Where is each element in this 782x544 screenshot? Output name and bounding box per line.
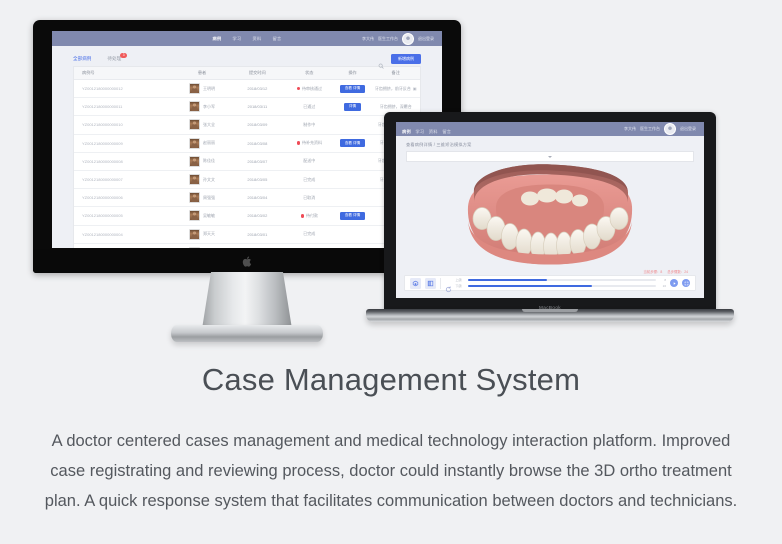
- cell-status: 制作中: [285, 122, 333, 128]
- caption-block: Case Management System A doctor centered…: [0, 360, 782, 516]
- macbook-screen: 病例 学习 资料 留言 李大伟 医生工作台 ☻ 退出登录 查看病例详情 / 三维…: [396, 122, 704, 298]
- avatar: [189, 247, 200, 248]
- cell-remark: 牙齿拥挤，深覆合: [372, 104, 420, 110]
- viewer-bottom-bar: 当前步骤：8 总步骤数：24: [396, 269, 704, 298]
- apple-logo-icon: [242, 256, 252, 267]
- viewer-nav-item-learning[interactable]: 学习: [415, 129, 424, 134]
- cell-case-id: YZ0012180000000011: [74, 104, 174, 109]
- case-tabs-row: 全部病例 待处理 3 新增病例: [73, 52, 421, 66]
- chevron-down-icon: [548, 156, 552, 158]
- status-badge: 待付款: [306, 213, 318, 219]
- cell-action: 详情: [333, 103, 371, 111]
- cell-patient: 张大全: [174, 119, 229, 130]
- cell-time: 2018/03/11: [230, 104, 285, 109]
- slider-group: 上颌 8 下颌 16: [456, 278, 667, 289]
- page-root: 病例 学习 资料 留言 李大伟 医生工作台 ☻ 退出登录: [0, 0, 782, 544]
- reset-icon[interactable]: [445, 280, 452, 287]
- status-badge: 待补充资料: [302, 140, 322, 146]
- th-remark: 备注: [372, 70, 420, 76]
- account-name: 李大伟: [362, 36, 374, 42]
- slider-upper-value: 8: [659, 278, 666, 282]
- status-dot-icon: [301, 214, 304, 217]
- step-total: 总步骤数：24: [667, 269, 688, 274]
- user-avatar-icon[interactable]: ☻: [402, 33, 414, 45]
- slider-upper-track[interactable]: [468, 279, 657, 281]
- status-badge: 已通过: [303, 104, 315, 110]
- remark-text: 牙齿拥挤，前牙反合: [375, 86, 411, 92]
- nav-item-learning[interactable]: 学习: [233, 36, 242, 42]
- status-badge: 待审核通过: [302, 86, 322, 92]
- case-table-header: 病例号 患者 提交时间 状态 操作 备注: [74, 67, 420, 80]
- avatar: [189, 138, 200, 149]
- slider-upper-label: 上颌: [456, 278, 465, 282]
- cell-status: 待审核通过: [285, 86, 333, 92]
- table-row[interactable]: YZ0012180000000012王明明2018/03/12待审核通过查看 详…: [74, 80, 420, 98]
- viewer-account-role: 医生工作台: [640, 126, 660, 132]
- viewer-user-avatar-icon[interactable]: ☻: [664, 123, 676, 135]
- macbook-device: 病例 学习 资料 留言 李大伟 医生工作台 ☻ 退出登录 查看病例详情 / 三维…: [366, 112, 734, 324]
- tab-pending[interactable]: 待处理 3: [107, 56, 121, 62]
- cell-patient: 郑天天: [174, 229, 229, 240]
- cell-time: 2018/03/02: [230, 213, 285, 218]
- slider-lower-value: 16: [659, 284, 666, 288]
- case-toolbar: 新增病例: [378, 54, 421, 64]
- viewer-account-name: 李大伟: [624, 126, 636, 132]
- viewer-toolbar: 上颌 8 下颌 16: [404, 275, 696, 291]
- status-dot-icon: [297, 87, 300, 90]
- th-status: 状态: [285, 70, 333, 76]
- nav-item-cases[interactable]: 病例: [213, 36, 222, 42]
- tab-pending-badge: 3: [120, 53, 127, 58]
- cell-time: 2018/03/07: [230, 159, 285, 164]
- new-case-button[interactable]: 新增病例: [391, 54, 421, 64]
- cell-status: 待补充资料: [285, 140, 333, 146]
- avatar: [189, 83, 200, 94]
- case-app-account[interactable]: 李大伟 医生工作台 ☻ 退出登录: [362, 33, 434, 45]
- expand-icon[interactable]: [682, 279, 690, 287]
- avatar: [189, 192, 200, 203]
- 3d-dental-model[interactable]: [452, 159, 648, 276]
- cell-case-id: YZ0012180000000007: [74, 177, 174, 182]
- patient-name: 郑天天: [203, 231, 215, 237]
- cell-time: 2018/03/05: [230, 177, 285, 182]
- slider-lower-track[interactable]: [468, 285, 657, 287]
- imac-stand-neck: [202, 272, 292, 329]
- nav-item-messages[interactable]: 留言: [272, 36, 281, 42]
- macbook-base: [366, 309, 734, 322]
- cell-patient: 冯小小: [174, 247, 229, 248]
- cell-action: 查看 详情: [333, 85, 371, 93]
- cell-status: 已完成: [285, 231, 333, 237]
- cell-status: 配送中: [285, 158, 333, 164]
- cell-case-id: YZ0012180000000006: [74, 195, 174, 200]
- cell-status: 已通过: [285, 104, 333, 110]
- cell-status: 待付款: [285, 213, 333, 219]
- th-action: 操作: [333, 70, 371, 76]
- attachment-icon: ▣: [413, 86, 417, 91]
- avatar: [189, 174, 200, 185]
- cell-patient: 吴敏敏: [174, 210, 229, 221]
- cell-patient: 李小军: [174, 101, 229, 112]
- cell-case-id: YZ0012180000000005: [74, 213, 174, 218]
- cell-case-id: YZ0012180000000012: [74, 86, 174, 91]
- logout-link[interactable]: 退出登录: [418, 36, 434, 42]
- viewer-app-header: 病例 学习 资料 留言 李大伟 医生工作台 ☻ 退出登录: [396, 122, 704, 136]
- cell-patient: 周强强: [174, 192, 229, 203]
- imac-stand-foot: [171, 325, 323, 342]
- remark-text: 牙齿拥挤，深覆合: [380, 104, 412, 110]
- status-badge: 已完成: [303, 177, 315, 183]
- macbook-notch: [522, 309, 578, 312]
- case-app-header: 病例 学习 资料 留言 李大伟 医生工作台 ☻ 退出登录: [52, 31, 442, 46]
- toolbar-divider: [440, 278, 441, 289]
- viewer-logout-link[interactable]: 退出登录: [680, 126, 696, 132]
- status-badge: 制作中: [303, 122, 315, 128]
- nav-item-materials[interactable]: 资料: [253, 36, 262, 42]
- patient-name: 陈佳佳: [203, 158, 215, 164]
- cell-time: 2018/03/12: [230, 86, 285, 91]
- slider-upper[interactable]: 上颌 8: [456, 278, 667, 282]
- slider-lower[interactable]: 下颌 16: [456, 284, 667, 288]
- avatar: [189, 210, 200, 221]
- viewer-app-account[interactable]: 李大伟 医生工作台 ☻ 退出登录: [624, 123, 696, 135]
- slider-upper-fill: [468, 279, 547, 281]
- patient-name: 李小军: [203, 104, 215, 110]
- status-badge: 已取消: [303, 195, 315, 201]
- status-badge: 已完成: [303, 231, 315, 237]
- th-time: 提交时间: [230, 70, 285, 76]
- viewer-nav-item-messages[interactable]: 留言: [442, 129, 451, 134]
- page-title: Case Management System: [0, 360, 782, 400]
- cell-patient: 王明明: [174, 83, 229, 94]
- tab-all-cases[interactable]: 全部病例: [73, 56, 91, 62]
- search-icon[interactable]: [378, 56, 384, 62]
- th-patient: 患者: [174, 70, 229, 76]
- cell-time: 2018/03/09: [230, 122, 285, 127]
- viewer-app-nav[interactable]: 病例 学习 资料 留言: [402, 122, 451, 138]
- cell-remark: 牙齿拥挤，前牙反合▣: [372, 86, 420, 92]
- device-showcase: 病例 学习 资料 留言 李大伟 医生工作台 ☻ 退出登录: [0, 0, 782, 345]
- row-action-button[interactable]: 查看 详情: [340, 212, 365, 220]
- viewer-nav-item-materials[interactable]: 资料: [429, 129, 438, 134]
- cell-time: 2018/03/04: [230, 195, 285, 200]
- model-view-icon[interactable]: [410, 278, 421, 289]
- viewer-nav-item-cases[interactable]: 病例: [402, 129, 411, 134]
- cell-case-id: YZ0012180000000009: [74, 141, 174, 146]
- cell-case-id: YZ0012180000000010: [74, 122, 174, 127]
- tab-pending-label: 待处理: [107, 56, 121, 61]
- patient-name: 张大全: [203, 122, 215, 128]
- status-badge: 配送中: [303, 158, 315, 164]
- play-icon[interactable]: [670, 279, 678, 287]
- cell-time: 2018/03/08: [230, 141, 285, 146]
- case-app-nav[interactable]: 病例 学习 资料 留言: [213, 36, 282, 42]
- cell-time: 2018/03/01: [230, 232, 285, 237]
- cell-status: 已完成: [285, 177, 333, 183]
- avatar: [189, 101, 200, 112]
- cell-status: 已取消: [285, 195, 333, 201]
- split-view-icon[interactable]: [425, 278, 436, 289]
- slider-lower-label: 下颌: [456, 284, 465, 288]
- model-canvas[interactable]: [396, 162, 704, 272]
- patient-name: 赵丽丽: [203, 140, 215, 146]
- cell-patient: 陈佳佳: [174, 156, 229, 167]
- viewer-breadcrumb: 查看病例详情 / 三维矫治模拟方案: [396, 136, 704, 151]
- patient-name: 孙文文: [203, 177, 215, 183]
- row-action-button[interactable]: 查看 详情: [340, 85, 365, 93]
- patient-name: 吴敏敏: [203, 213, 215, 219]
- step-current: 当前步骤：8: [643, 269, 662, 274]
- slider-lower-fill: [468, 285, 592, 287]
- row-action-button[interactable]: 详情: [344, 103, 361, 111]
- th-case-id: 病例号: [74, 70, 174, 76]
- macbook-lid: 病例 学习 资料 留言 李大伟 医生工作台 ☻ 退出登录 查看病例详情 / 三维…: [384, 112, 716, 311]
- status-dot-icon: [297, 141, 300, 144]
- patient-name: 王明明: [203, 86, 215, 92]
- row-action-button[interactable]: 查看 详情: [340, 139, 365, 147]
- patient-name: 周强强: [203, 195, 215, 201]
- avatar: [189, 119, 200, 130]
- cell-patient: 赵丽丽: [174, 138, 229, 149]
- cell-case-id: YZ0012180000000004: [74, 232, 174, 237]
- account-role: 医生工作台: [378, 36, 398, 42]
- cell-patient: 孙文文: [174, 174, 229, 185]
- avatar: [189, 156, 200, 167]
- cell-case-id: YZ0012180000000008: [74, 159, 174, 164]
- page-description: A doctor centered cases management and m…: [41, 426, 741, 516]
- avatar: [189, 229, 200, 240]
